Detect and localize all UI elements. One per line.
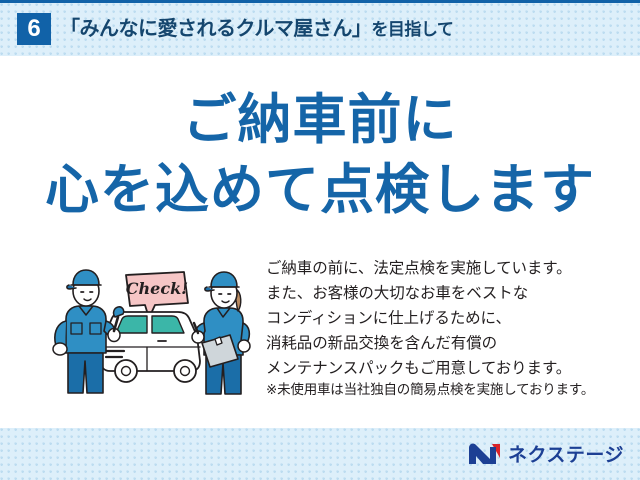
- body-line-2: また、お客様の大切なお車をベストな: [266, 281, 626, 306]
- mechanic-male-figure: [53, 270, 124, 393]
- section-number-badge: 6: [17, 13, 51, 45]
- body-note: ※未使用車は当社独自の簡易点検を実施しております。: [266, 381, 636, 400]
- body-line-1: ご納車の前に、法定点検を実施しています。: [266, 256, 626, 281]
- headline-secondary: 心を込めて点検します: [0, 160, 640, 220]
- nexstage-n-mark: [468, 442, 502, 466]
- slide-canvas: 6 「みんなに愛されるクルマ屋さん」を目指して ご納車前に 心を込めて点検します: [0, 0, 640, 480]
- speech-bubble-label: Check!: [126, 279, 188, 298]
- header-title-suffix: を目指して: [371, 20, 453, 39]
- brand-wordmark: ネクステージ: [508, 440, 624, 467]
- headline-primary: ご納車前に: [0, 90, 640, 150]
- header-title: 「みんなに愛されるクルマ屋さん」を目指して: [60, 14, 453, 44]
- body-line-3: コンディションに仕上げるために、: [266, 306, 626, 331]
- content-panel: ご納車前に 心を込めて点検します: [0, 56, 640, 428]
- body-line-4: 消耗品の新品交換を含んだ有償の: [266, 331, 626, 356]
- mechanics-illustration: Check!: [52, 261, 262, 401]
- brand-logo: ネクステージ: [468, 440, 624, 467]
- header-title-quoted: 「みんなに愛されるクルマ屋さん」: [60, 18, 371, 40]
- body-line-5: メンテナンスパックもご用意しております。: [266, 356, 626, 381]
- mechanic-female-figure: [192, 272, 250, 394]
- body-copy: ご納車の前に、法定点検を実施しています。 また、お客様の大切なお車をベストな コ…: [266, 256, 626, 381]
